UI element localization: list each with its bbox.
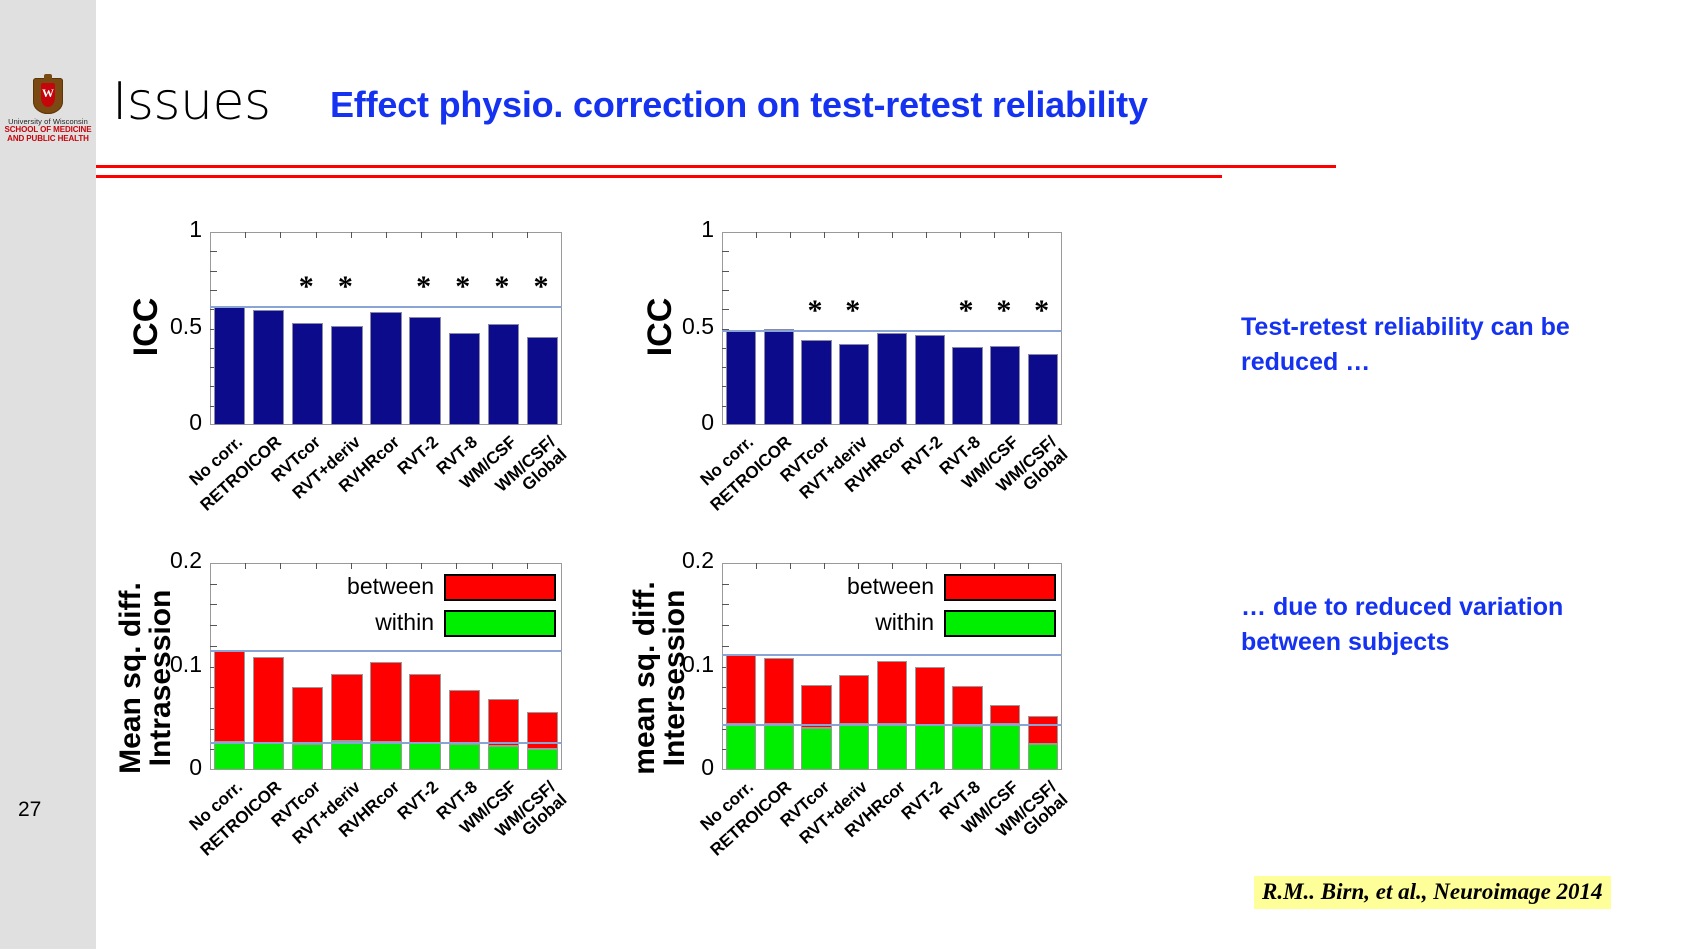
- xtick-label-msd-intrasession-3: RVT+deriv: [233, 778, 363, 898]
- ytick-label-msd-intrasession-2: 0.2: [132, 547, 202, 574]
- bar-within-msd-intrasession-2: [292, 744, 323, 770]
- bar-between-msd-intersession-5: [915, 667, 945, 725]
- significance-star-icc-intrasession-5: *: [416, 272, 431, 302]
- xtick-label-icc-intrasession-4: RVHRcor: [272, 433, 402, 553]
- bar-within-msd-intersession-8: [1028, 744, 1058, 770]
- reference-line-msd-intrasession-1: [210, 742, 562, 744]
- xtick-label-icc-intersession-7: WM/CSF: [891, 433, 1021, 553]
- plot-area-icc-intersession: [722, 232, 1062, 425]
- bar-within-msd-intrasession-7: [488, 746, 519, 770]
- legend-label-between: between: [194, 573, 434, 600]
- bar-within-msd-intrasession-4: [370, 742, 401, 770]
- bar-icc-intersession-4: [877, 333, 907, 425]
- ytick-mark-icc-intersession-1: [722, 406, 729, 407]
- significance-star-icc-intrasession-3: *: [338, 272, 353, 302]
- xtick-label-msd-intersession-8: WM/CSF/ Global: [929, 778, 1071, 911]
- y-axis-label-msd-intersession: mean sq. diff.Intersession: [630, 563, 690, 793]
- bar-within-msd-intrasession-1: [253, 743, 284, 770]
- reference-line-icc-intersession-0: [722, 330, 1062, 332]
- xtick-mark-msd-intrasession-2: [280, 563, 281, 569]
- legend-swatch-within: [944, 610, 1056, 637]
- xtick-label-msd-intersession-7: WM/CSF: [891, 778, 1021, 898]
- ytick-mark-msd-intrasession-6: [210, 646, 217, 647]
- bar-icc-intrasession-2: [292, 323, 323, 425]
- significance-star-icc-intrasession-8: *: [533, 272, 548, 302]
- xtick-mark-icc-intersession-8: [994, 232, 995, 238]
- ytick-mark-icc-intrasession-3: [210, 367, 217, 368]
- bar-within-msd-intersession-0: [726, 724, 756, 770]
- xtick-label-icc-intersession-0: No corr.: [627, 433, 757, 553]
- bar-icc-intersession-3: [839, 344, 869, 425]
- xtick-label-icc-intrasession-0: No corr.: [115, 433, 245, 553]
- ytick-mark-msd-intrasession-9: [210, 584, 217, 585]
- xtick-mark-icc-intersession-3: [824, 232, 825, 238]
- bar-within-msd-intersession-6: [952, 726, 982, 770]
- chart-icc-intrasession: 00.51ICC******No corr.RETROICORRVTcorRVT…: [0, 0, 1687, 949]
- crest-top-ornament: [44, 74, 52, 80]
- chart-msd-intrasession: 00.10.2Mean sq. diff.Intrasessionbetween…: [0, 0, 1687, 949]
- xtick-mark-msd-intrasession-8: [492, 563, 493, 569]
- ytick-mark-icc-intrasession-4: [210, 348, 217, 349]
- bar-between-msd-intrasession-2: [292, 687, 323, 744]
- ytick-mark-icc-intersession-9: [722, 251, 729, 252]
- xtick-label-icc-intersession-6: RVT-8: [853, 433, 983, 553]
- university-logo: University of Wisconsin SCHOOL OF MEDICI…: [4, 78, 92, 144]
- bar-within-msd-intersession-3: [839, 724, 869, 770]
- bar-between-msd-intersession-0: [726, 654, 756, 724]
- bar-between-msd-intersession-3: [839, 675, 869, 725]
- bar-icc-intrasession-0: [214, 306, 245, 425]
- bar-between-msd-intersession-8: [1028, 716, 1058, 744]
- header-rule-bottom: [96, 175, 1222, 178]
- bar-icc-intersession-8: [1028, 354, 1058, 425]
- xtick-mark-msd-intersession-8: [994, 563, 995, 569]
- y-axis-label-icc-intrasession: ICC: [129, 267, 163, 387]
- ytick-label-icc-intrasession-0: 0: [132, 409, 202, 436]
- note-variation: … due to reduced variation between subje…: [1241, 590, 1641, 659]
- bar-icc-intersession-2: [801, 340, 831, 425]
- significance-star-icc-intersession-3: *: [845, 296, 860, 326]
- ytick-mark-msd-intersession-2: [722, 729, 729, 730]
- xtick-label-msd-intrasession-1: RETROICOR: [154, 778, 284, 898]
- xtick-mark-icc-intersession-6: [926, 232, 927, 238]
- bar-within-msd-intrasession-8: [527, 749, 558, 770]
- bar-between-msd-intersession-4: [877, 661, 907, 724]
- xtick-label-msd-intrasession-7: WM/CSF: [389, 778, 519, 898]
- xtick-label-msd-intrasession-5: RVT-2: [311, 778, 441, 898]
- xtick-label-msd-intersession-4: RVHRcor: [778, 778, 908, 898]
- citation-reference: R.M.. Birn, et al., Neuroimage 2014: [1254, 876, 1611, 909]
- ytick-mark-icc-intrasession-7: [210, 290, 217, 291]
- xtick-label-msd-intrasession-6: RVT-8: [350, 778, 480, 898]
- xtick-label-icc-intersession-3: RVT+deriv: [740, 433, 870, 553]
- bar-icc-intrasession-6: [449, 333, 480, 425]
- reference-line-msd-intrasession-0: [210, 650, 562, 652]
- xtick-label-icc-intersession-8: WM/CSF/ Global: [929, 433, 1071, 566]
- xtick-mark-icc-intrasession-8: [492, 232, 493, 238]
- legend-label-between: between: [694, 573, 934, 600]
- page-subtitle: Effect physio. correction on test-retest…: [330, 84, 1148, 126]
- ytick-mark-icc-intrasession-2: [210, 386, 217, 387]
- ytick-mark-msd-intersession-4: [722, 687, 729, 688]
- page-title: Issues: [112, 72, 271, 132]
- ytick-label-icc-intrasession-1: 0.5: [132, 313, 202, 340]
- xtick-mark-icc-intersession-9: [1028, 232, 1029, 238]
- ytick-label-icc-intersession-0: 0: [644, 409, 714, 436]
- bar-within-msd-intrasession-5: [409, 743, 440, 770]
- xtick-mark-msd-intersession-9: [1028, 563, 1029, 569]
- bar-within-msd-intersession-4: [877, 724, 907, 770]
- y-axis-label-icc-intersession: ICC: [643, 267, 677, 387]
- ytick-mark-icc-intersession-6: [722, 309, 729, 310]
- uw-crest-icon: [33, 78, 63, 114]
- bar-icc-intrasession-5: [409, 317, 440, 425]
- legend-label-within: within: [194, 609, 434, 636]
- bar-between-msd-intrasession-6: [449, 690, 480, 744]
- bar-between-msd-intersession-7: [990, 705, 1020, 724]
- ytick-mark-icc-intrasession-6: [210, 309, 217, 310]
- xtick-mark-msd-intersession-7: [960, 563, 961, 569]
- logo-line-public-health: AND PUBLIC HEALTH: [4, 135, 92, 144]
- ytick-label-msd-intersession-2: 0.2: [644, 547, 714, 574]
- bar-icc-intersession-1: [764, 329, 794, 425]
- bar-icc-intrasession-7: [488, 324, 519, 425]
- xtick-mark-icc-intersession-5: [892, 232, 893, 238]
- ytick-label-msd-intersession-1: 0.1: [644, 651, 714, 678]
- significance-star-icc-intersession-6: *: [959, 296, 974, 326]
- xtick-mark-msd-intrasession-1: [245, 563, 246, 569]
- xtick-label-msd-intrasession-2: RVTcor: [194, 778, 324, 898]
- significance-star-icc-intersession-8: *: [1034, 296, 1049, 326]
- xtick-mark-icc-intrasession-5: [386, 232, 387, 238]
- bar-icc-intrasession-8: [527, 337, 558, 425]
- bar-between-msd-intrasession-4: [370, 662, 401, 741]
- reference-line-icc-intrasession-0: [210, 306, 562, 308]
- legend-swatch-within: [444, 610, 556, 637]
- xtick-mark-icc-intrasession-3: [316, 232, 317, 238]
- xtick-label-icc-intrasession-3: RVT+deriv: [233, 433, 363, 553]
- xtick-mark-icc-intersession-4: [858, 232, 859, 238]
- ytick-mark-msd-intrasession-5: [210, 667, 217, 668]
- xtick-label-icc-intersession-4: RVHRcor: [778, 433, 908, 553]
- bar-between-msd-intrasession-1: [253, 657, 284, 742]
- ytick-mark-icc-intrasession-9: [210, 251, 217, 252]
- bar-between-msd-intersession-2: [801, 685, 831, 728]
- bar-icc-intersession-5: [915, 335, 945, 425]
- xtick-mark-icc-intersession-7: [960, 232, 961, 238]
- ytick-mark-icc-intersession-7: [722, 290, 729, 291]
- note-test-retest: Test-retest reliability can be reduced …: [1241, 310, 1641, 379]
- ytick-mark-msd-intersession-7: [722, 625, 729, 626]
- reference-line-msd-intersession-1: [722, 724, 1062, 726]
- ytick-mark-msd-intersession-6: [722, 646, 729, 647]
- bar-icc-intrasession-4: [370, 312, 401, 425]
- xtick-mark-icc-intrasession-9: [527, 232, 528, 238]
- y-axis-label-msd-intrasession: Mean sq. diff.Intrasession: [116, 563, 176, 793]
- ytick-label-icc-intersession-1: 0.5: [644, 313, 714, 340]
- xtick-label-msd-intersession-3: RVT+deriv: [740, 778, 870, 898]
- xtick-label-icc-intrasession-7: WM/CSF: [389, 433, 519, 553]
- xtick-label-msd-intrasession-4: RVHRcor: [272, 778, 402, 898]
- xtick-label-msd-intersession-5: RVT-2: [815, 778, 945, 898]
- xtick-label-icc-intrasession-1: RETROICOR: [154, 433, 284, 553]
- bar-within-msd-intrasession-3: [331, 741, 362, 770]
- xtick-label-msd-intrasession-8: WM/CSF/ Global: [428, 778, 570, 911]
- ytick-mark-icc-intersession-3: [722, 367, 729, 368]
- xtick-mark-icc-intrasession-6: [421, 232, 422, 238]
- significance-star-icc-intrasession-6: *: [455, 272, 470, 302]
- ytick-label-msd-intersession-0: 0: [644, 754, 714, 781]
- ytick-mark-msd-intrasession-1: [210, 749, 217, 750]
- xtick-mark-msd-intrasession-3: [316, 563, 317, 569]
- bar-icc-intrasession-1: [253, 310, 284, 425]
- bar-between-msd-intersession-1: [764, 658, 794, 725]
- bar-icc-intersession-7: [990, 346, 1020, 425]
- xtick-mark-msd-intrasession-4: [351, 563, 352, 569]
- xtick-mark-icc-intrasession-1: [245, 232, 246, 238]
- xtick-label-icc-intersession-1: RETROICOR: [664, 433, 794, 553]
- plot-area-msd-intrasession: [210, 563, 562, 770]
- ytick-mark-icc-intersession-4: [722, 348, 729, 349]
- bar-within-msd-intrasession-0: [214, 742, 245, 770]
- bar-within-msd-intersession-5: [915, 725, 945, 770]
- ytick-mark-msd-intersession-3: [722, 708, 729, 709]
- xtick-mark-icc-intrasession-2: [280, 232, 281, 238]
- legend-swatch-between: [444, 574, 556, 601]
- xtick-label-icc-intrasession-2: RVTcor: [194, 433, 324, 553]
- bar-within-msd-intrasession-6: [449, 744, 480, 770]
- ytick-mark-msd-intersession-8: [722, 604, 729, 605]
- bar-icc-intrasession-3: [331, 326, 362, 425]
- bar-between-msd-intrasession-8: [527, 712, 558, 749]
- significance-star-icc-intersession-7: *: [996, 296, 1011, 326]
- xtick-label-msd-intersession-0: No corr.: [627, 778, 757, 898]
- ytick-label-icc-intrasession-2: 1: [132, 216, 202, 243]
- xtick-mark-icc-intrasession-4: [351, 232, 352, 238]
- xtick-label-icc-intersession-5: RVT-2: [815, 433, 945, 553]
- chart-msd-intersession: 00.10.2mean sq. diff.Intersessionbetween…: [0, 0, 1687, 949]
- ytick-mark-msd-intersession-9: [722, 584, 729, 585]
- bar-icc-intersession-6: [952, 347, 982, 425]
- ytick-mark-msd-intrasession-4: [210, 687, 217, 688]
- bar-between-msd-intersession-6: [952, 686, 982, 726]
- xtick-mark-msd-intrasession-5: [386, 563, 387, 569]
- xtick-label-msd-intersession-6: RVT-8: [853, 778, 983, 898]
- ytick-label-msd-intrasession-1: 0.1: [132, 651, 202, 678]
- ytick-mark-msd-intrasession-7: [210, 625, 217, 626]
- header-rule-top: [96, 165, 1336, 168]
- bar-icc-intersession-0: [726, 330, 756, 425]
- page-number: 27: [18, 798, 41, 822]
- bar-between-msd-intrasession-5: [409, 674, 440, 743]
- xtick-mark-msd-intersession-6: [926, 563, 927, 569]
- ytick-mark-msd-intrasession-2: [210, 729, 217, 730]
- legend-label-within: within: [694, 609, 934, 636]
- ytick-label-icc-intersession-2: 1: [644, 216, 714, 243]
- ytick-mark-msd-intrasession-3: [210, 708, 217, 709]
- xtick-label-msd-intersession-2: RVTcor: [702, 778, 832, 898]
- xtick-mark-msd-intersession-2: [790, 563, 791, 569]
- ytick-mark-icc-intersession-8: [722, 271, 729, 272]
- significance-star-icc-intersession-2: *: [807, 296, 822, 326]
- bar-between-msd-intrasession-0: [214, 650, 245, 742]
- bar-between-msd-intrasession-3: [331, 674, 362, 741]
- ytick-mark-icc-intrasession-5: [210, 329, 217, 330]
- ytick-mark-icc-intersession-5: [722, 329, 729, 330]
- xtick-mark-msd-intrasession-9: [527, 563, 528, 569]
- ytick-mark-icc-intrasession-8: [210, 271, 217, 272]
- reference-line-msd-intersession-0: [722, 654, 1062, 656]
- xtick-label-icc-intrasession-6: RVT-8: [350, 433, 480, 553]
- ytick-mark-msd-intersession-1: [722, 749, 729, 750]
- chart-icc-intersession: 00.51ICC*****No corr.RETROICORRVTcorRVT+…: [0, 0, 1687, 949]
- bar-within-msd-intersession-7: [990, 724, 1020, 770]
- ytick-mark-msd-intrasession-8: [210, 604, 217, 605]
- bar-within-msd-intersession-2: [801, 728, 831, 770]
- ytick-mark-icc-intrasession-1: [210, 406, 217, 407]
- xtick-label-icc-intersession-2: RVTcor: [702, 433, 832, 553]
- xtick-label-msd-intrasession-0: No corr.: [115, 778, 245, 898]
- xtick-mark-msd-intersession-5: [892, 563, 893, 569]
- xtick-label-icc-intrasession-8: WM/CSF/ Global: [428, 433, 570, 566]
- xtick-mark-msd-intersession-1: [756, 563, 757, 569]
- legend-swatch-between: [944, 574, 1056, 601]
- plot-area-icc-intrasession: [210, 232, 562, 425]
- xtick-label-icc-intrasession-5: RVT-2: [311, 433, 441, 553]
- xtick-mark-msd-intrasession-7: [456, 563, 457, 569]
- ytick-mark-msd-intersession-5: [722, 667, 729, 668]
- xtick-mark-icc-intersession-1: [756, 232, 757, 238]
- ytick-mark-icc-intersession-2: [722, 386, 729, 387]
- bar-between-msd-intrasession-7: [488, 699, 519, 747]
- xtick-mark-icc-intersession-2: [790, 232, 791, 238]
- xtick-mark-msd-intrasession-6: [421, 563, 422, 569]
- plot-area-msd-intersession: [722, 563, 1062, 770]
- bar-within-msd-intersession-1: [764, 724, 794, 770]
- xtick-mark-msd-intersession-3: [824, 563, 825, 569]
- xtick-mark-msd-intersession-4: [858, 563, 859, 569]
- xtick-mark-icc-intrasession-7: [456, 232, 457, 238]
- xtick-label-msd-intersession-1: RETROICOR: [664, 778, 794, 898]
- ytick-label-msd-intrasession-0: 0: [132, 754, 202, 781]
- significance-star-icc-intrasession-7: *: [494, 272, 509, 302]
- significance-star-icc-intrasession-2: *: [299, 272, 314, 302]
